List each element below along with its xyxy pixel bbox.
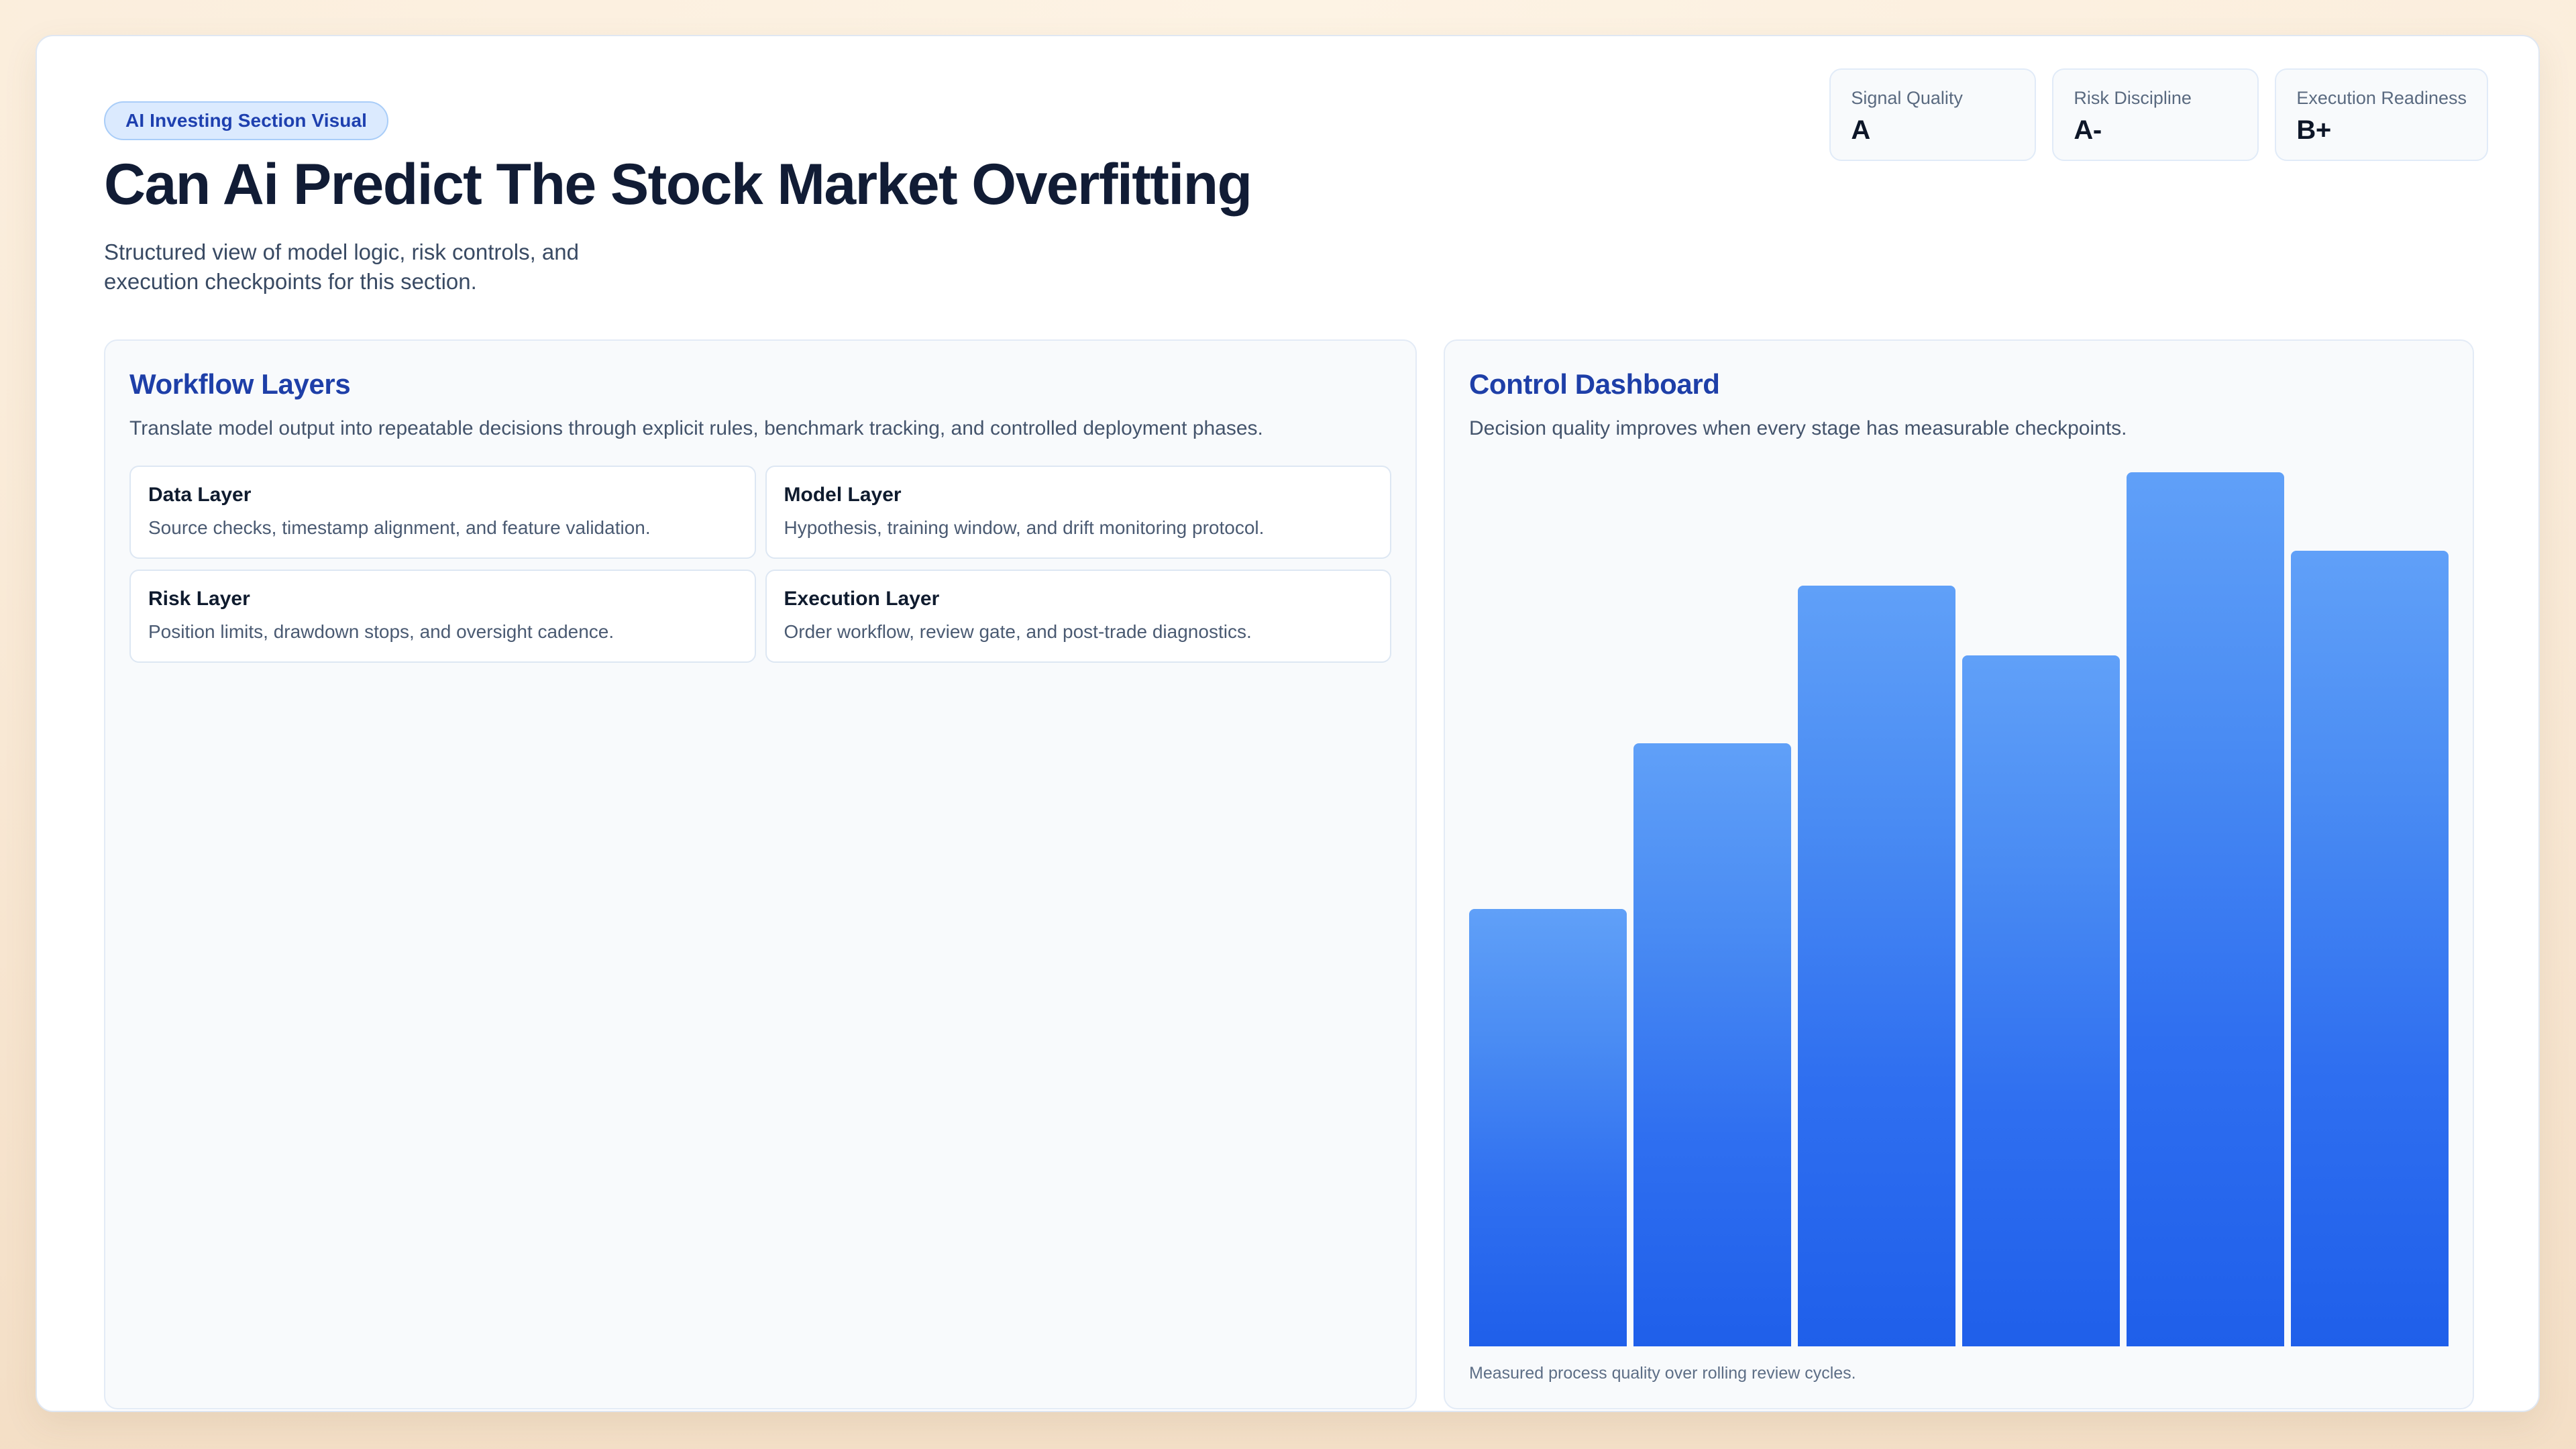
page-root: AI Investing Section Visual Can Ai Predi… — [0, 0, 2576, 1449]
metric-chip-risk-discipline: Risk Discipline A- — [2052, 68, 2259, 161]
metric-chip-signal-quality: Signal Quality A — [1829, 68, 2036, 161]
layer-tile-data[interactable]: Data Layer Source checks, timestamp alig… — [129, 466, 756, 559]
main-card: AI Investing Section Visual Can Ai Predi… — [36, 35, 2540, 1412]
layer-tile-model[interactable]: Model Layer Hypothesis, training window,… — [765, 466, 1392, 559]
layer-name: Data Layer — [148, 483, 737, 507]
workflow-layers-title: Workflow Layers — [129, 369, 1391, 400]
control-dashboard-description: Decision quality improves when every sta… — [1469, 415, 2449, 442]
workflow-layers-description: Translate model output into repeatable d… — [129, 415, 1391, 442]
bar-chart-bar[interactable] — [2127, 472, 2284, 1346]
workflow-layers-panel: Workflow Layers Translate model output i… — [104, 339, 1417, 1409]
metric-label: Risk Discipline — [2074, 88, 2237, 109]
layer-detail: Order workflow, review gate, and post-tr… — [784, 620, 1373, 644]
bar-chart-bar[interactable] — [1798, 586, 1955, 1346]
bar-chart-bar[interactable] — [1962, 655, 2120, 1346]
metric-label: Execution Readiness — [2296, 88, 2467, 109]
bar-chart-bar[interactable] — [1633, 743, 1791, 1346]
bar-chart-bar[interactable] — [2291, 551, 2449, 1346]
metric-value: A- — [2074, 115, 2237, 145]
page-subtitle-line-2: execution checkpoints for this section. — [104, 267, 976, 297]
layer-detail: Source checks, timestamp alignment, and … — [148, 516, 737, 540]
layer-tile-execution[interactable]: Execution Layer Order workflow, review g… — [765, 570, 1392, 663]
layer-name: Model Layer — [784, 483, 1373, 507]
metric-value: B+ — [2296, 115, 2467, 145]
metric-chip-group: Signal Quality A Risk Discipline A- Exec… — [1829, 68, 2488, 161]
bar-chart: Measured process quality over rolling re… — [1469, 472, 2449, 1384]
page-subtitle: Structured view of model logic, risk con… — [104, 237, 976, 297]
panel-row: Workflow Layers Translate model output i… — [104, 339, 2474, 1409]
page-header: AI Investing Section Visual Can Ai Predi… — [37, 36, 2538, 305]
page-title: Can Ai Predict The Stock Market Overfitt… — [104, 156, 1252, 215]
control-dashboard-title: Control Dashboard — [1469, 369, 2449, 400]
section-badge: AI Investing Section Visual — [104, 101, 388, 140]
metric-value: A — [1851, 115, 2015, 145]
control-dashboard-panel: Control Dashboard Decision quality impro… — [1444, 339, 2474, 1409]
layer-name: Execution Layer — [784, 587, 1373, 611]
layer-name: Risk Layer — [148, 587, 737, 611]
layer-tile-risk[interactable]: Risk Layer Position limits, drawdown sto… — [129, 570, 756, 663]
layer-detail: Position limits, drawdown stops, and ove… — [148, 620, 737, 644]
section-badge-label: AI Investing Section Visual — [125, 110, 367, 131]
bar-chart-caption: Measured process quality over rolling re… — [1469, 1362, 1856, 1385]
layer-tile-grid: Data Layer Source checks, timestamp alig… — [129, 466, 1391, 663]
page-subtitle-line-1: Structured view of model logic, risk con… — [104, 237, 976, 267]
metric-label: Signal Quality — [1851, 88, 2015, 109]
bar-chart-bar[interactable] — [1469, 909, 1627, 1346]
metric-chip-execution-readiness: Execution Readiness B+ — [2275, 68, 2488, 161]
layer-detail: Hypothesis, training window, and drift m… — [784, 516, 1373, 540]
